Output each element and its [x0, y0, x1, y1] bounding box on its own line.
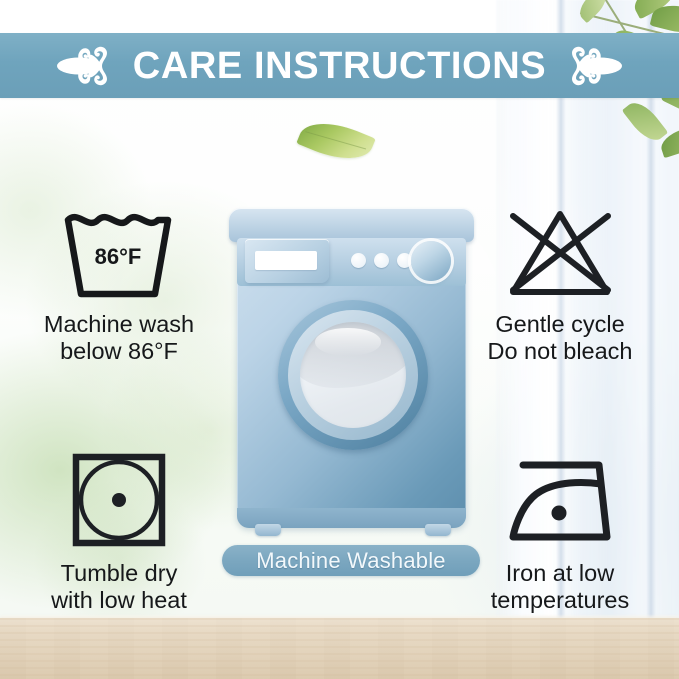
washing-machine-illustration: [229, 208, 474, 533]
triangle-crossed-no-bleach-icon: [455, 193, 665, 311]
fleur-de-lis-icon-left: [53, 44, 115, 88]
control-button-2: [374, 253, 389, 268]
iron-one-dot-icon: [455, 442, 665, 560]
machine-top-lid: [229, 208, 474, 242]
page-title: CARE INSTRUCTIONS: [133, 47, 546, 85]
care-caption-machine-wash: Machine wash below 86°F: [14, 311, 224, 366]
control-button-3: [397, 253, 412, 268]
wash-temp-label: 86°F: [95, 244, 142, 269]
fleur-de-lis-icon-right: [564, 44, 626, 88]
care-symbol-do-not-bleach: Gentle cycle Do not bleach: [455, 193, 665, 366]
detergent-slot: [255, 251, 317, 270]
care-caption-iron: Iron at low temperatures: [455, 560, 665, 615]
wooden-table-surface: [0, 618, 679, 679]
care-caption-do-not-bleach: Gentle cycle Do not bleach: [455, 311, 665, 366]
control-button-1: [351, 253, 366, 268]
machine-washable-label: Machine Washable: [256, 548, 445, 574]
care-symbol-tumble-dry: Tumble dry with low heat: [14, 442, 224, 615]
machine-door: [278, 300, 428, 450]
tumble-dry-low-icon: [14, 442, 224, 560]
program-knob: [411, 241, 451, 281]
machine-foot-left: [255, 524, 281, 536]
door-glass: [300, 322, 406, 428]
wash-basin-icon: 86°F: [14, 193, 224, 311]
door-glass-highlight: [315, 328, 381, 356]
care-instructions-graphic: CARE INSTRUCTIONS: [0, 0, 679, 679]
machine-washable-badge: Machine Washable: [222, 545, 480, 576]
care-caption-tumble-dry: Tumble dry with low heat: [14, 560, 224, 615]
header-banner: CARE INSTRUCTIONS: [0, 33, 679, 98]
care-symbol-machine-wash: 86°F Machine wash below 86°F: [14, 193, 224, 366]
detergent-drawer: [245, 239, 329, 283]
machine-foot-right: [425, 524, 451, 536]
door-inner-ring: [288, 310, 418, 440]
care-symbol-iron: Iron at low temperatures: [455, 442, 665, 615]
